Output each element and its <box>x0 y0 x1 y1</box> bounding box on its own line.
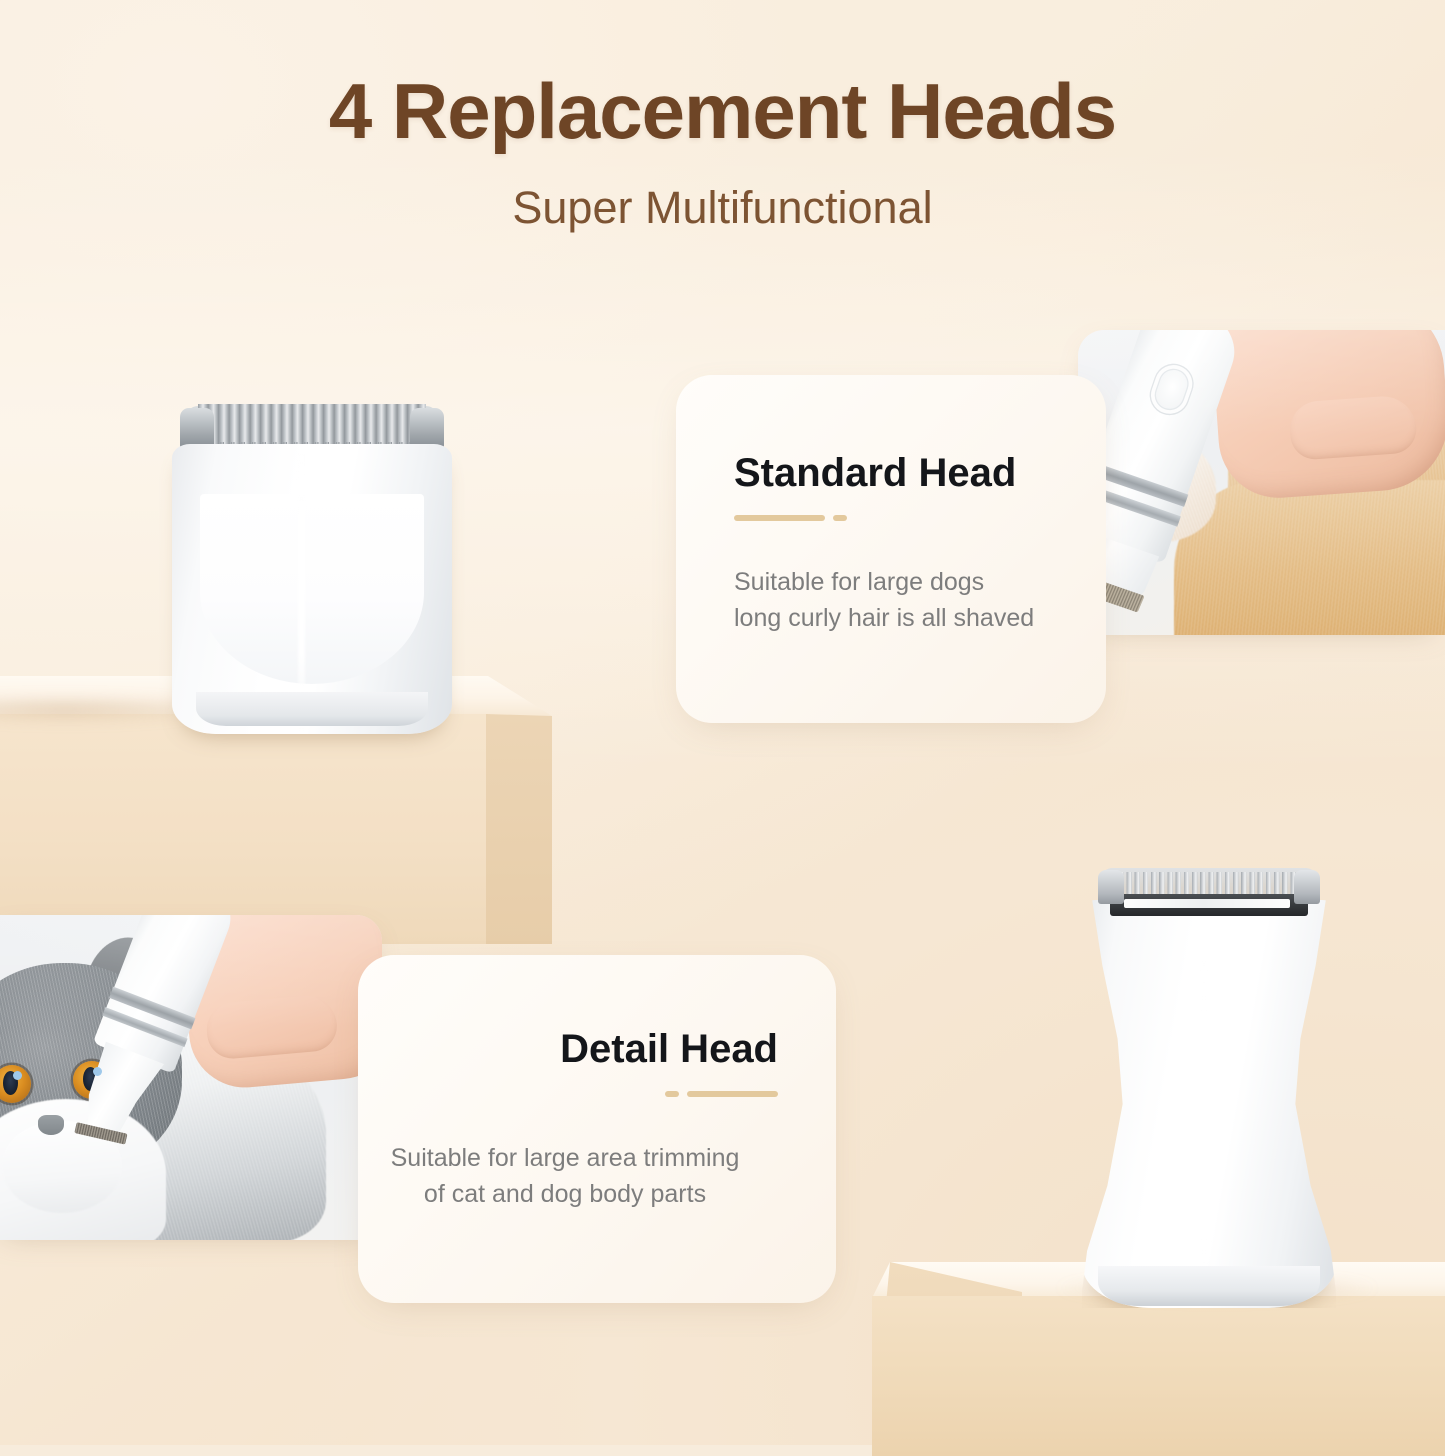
clipper-body <box>1082 900 1336 1308</box>
pedestal-side-face <box>486 714 552 944</box>
detail-head-product-image <box>1064 858 1354 1308</box>
divider-long-dash <box>734 515 825 521</box>
blade-plate <box>1110 894 1308 916</box>
pedestal-front-face <box>0 714 488 944</box>
detail-head-info-card: Detail Head Suitable for large area trim… <box>358 955 836 1303</box>
card-heading: Detail Head <box>358 1029 778 1069</box>
card-divider <box>358 1091 778 1097</box>
standard-head-product-image <box>162 392 462 734</box>
clipper-body <box>172 444 452 734</box>
body-scoop-highlight <box>200 494 424 684</box>
divider-short-dash <box>833 515 847 521</box>
clipper-base <box>196 692 428 726</box>
clipper-base <box>1098 1266 1320 1306</box>
blade-cap-left <box>1098 870 1124 904</box>
human-hand <box>1210 330 1445 502</box>
card-description-line-2: of cat and dog body parts <box>358 1177 772 1213</box>
pedestal-front-face <box>872 1296 1445 1456</box>
card-description: Suitable for large dogs long curly hair … <box>734 565 1106 636</box>
card-heading: Standard Head <box>734 453 1106 493</box>
blade-cap-right <box>1294 870 1320 904</box>
standard-head-info-card: Standard Head Suitable for large dogs lo… <box>676 375 1106 723</box>
hand-grooming-grey-cat-photo <box>0 915 382 1240</box>
card-description-line-1: Suitable for large dogs <box>734 565 1106 601</box>
page-title: 4 Replacement Heads <box>0 66 1445 157</box>
cat-nose <box>38 1115 64 1135</box>
card-divider <box>734 515 1106 521</box>
hand-grooming-golden-dog-photo <box>1078 330 1445 635</box>
body-highlight <box>1200 960 1208 1290</box>
card-description-line-2: long curly hair is all shaved <box>734 601 1106 637</box>
divider-long-dash <box>687 1091 778 1097</box>
divider-short-dash <box>665 1091 679 1097</box>
card-description-line-1: Suitable for large area trimming <box>358 1141 772 1177</box>
card-description: Suitable for large area trimming of cat … <box>358 1141 778 1212</box>
page-subtitle: Super Multifunctional <box>0 182 1445 234</box>
